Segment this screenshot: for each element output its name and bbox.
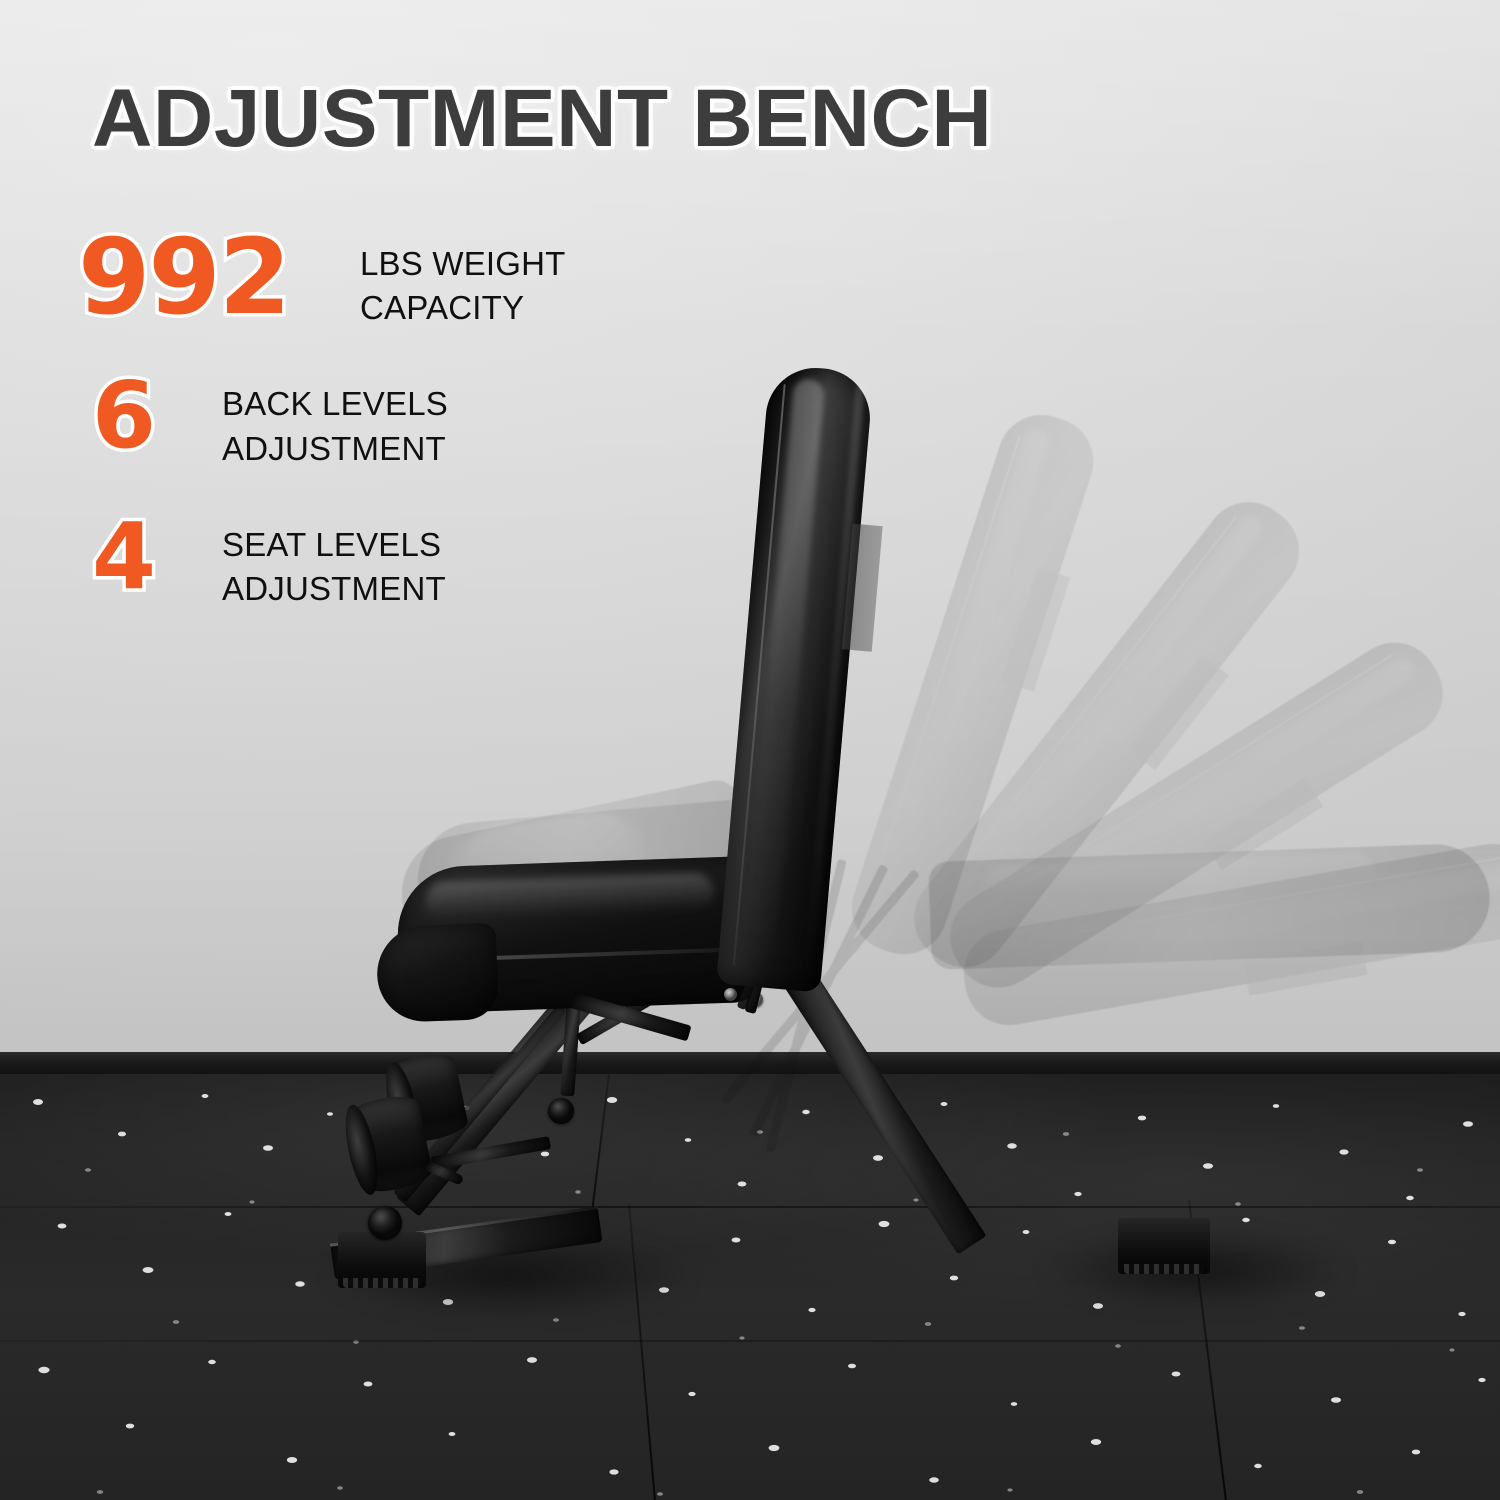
product-infographic: ADJUSTMENT BENCH 992 LBS WEIGHT CAPACITY… (0, 0, 1500, 1500)
product-image-adjustable-bench (0, 0, 1500, 1500)
base-adjustment-knob[interactable] (368, 1206, 402, 1240)
seat-adjustment-pin[interactable] (548, 1098, 574, 1124)
backrest-ghost-flat-rest (928, 842, 1491, 969)
front-foot-pad (338, 1232, 426, 1288)
seat-pad (396, 856, 761, 1014)
pivot-bolt-side (724, 988, 737, 1001)
rear-foot-pad (1118, 1218, 1210, 1274)
